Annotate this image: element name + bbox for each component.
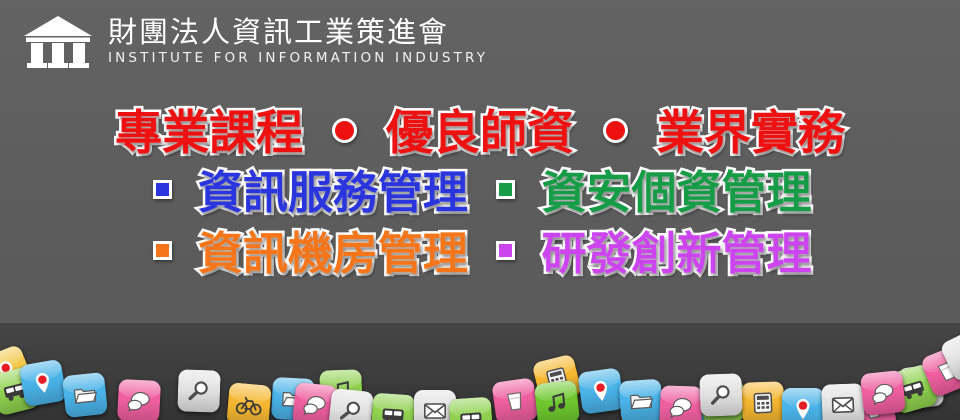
calculator-icon[interactable]: [741, 381, 784, 420]
headline-line-3: 資訊機房管理 研發創新管理: [0, 222, 960, 283]
institute-building-icon: [22, 14, 94, 72]
headline-line-1: 專業課程 優良師資 業界實務: [0, 104, 960, 161]
headline-stack: 專業課程 優良師資 業界實務 資訊服務管理 資安個資管理 資訊機房管理 研發創新…: [0, 104, 960, 283]
course-infosec-privacy-management[interactable]: 資安個資管理: [541, 164, 811, 222]
headline-segment-industry-practice: 業界實務: [657, 107, 845, 161]
map-pin-icon[interactable]: [577, 367, 624, 414]
folder-icon[interactable]: [619, 379, 664, 420]
course-rnd-innovation-management[interactable]: 研發創新管理: [541, 225, 811, 283]
chat-icon[interactable]: [659, 385, 702, 420]
music-icon[interactable]: [534, 380, 580, 420]
map-pin-icon[interactable]: [782, 388, 824, 420]
promo-banner: 財團法人資訊工業策進會 INSTITUTE FOR INFORMATION IN…: [0, 0, 960, 420]
bus-icon[interactable]: [449, 397, 494, 420]
headline-line-2: 資訊服務管理 資安個資管理: [0, 161, 960, 222]
course-it-service-management[interactable]: 資訊服務管理: [198, 164, 468, 222]
logo-english-name: INSTITUTE FOR INFORMATION INDUSTRY: [108, 50, 488, 67]
cup-icon[interactable]: [491, 377, 538, 420]
search-icon[interactable]: [328, 388, 374, 420]
bullet-square-icon: [153, 180, 172, 199]
bus-icon[interactable]: [371, 393, 416, 420]
course-data-center-management[interactable]: 資訊機房管理: [198, 225, 468, 283]
bullet-square-icon: [496, 180, 515, 199]
chat-icon[interactable]: [860, 370, 906, 416]
folder-icon[interactable]: [62, 372, 108, 418]
mail-icon[interactable]: [821, 383, 864, 420]
map-pin-icon[interactable]: [19, 359, 68, 408]
logo-text-block: 財團法人資訊工業策進會 INSTITUTE FOR INFORMATION IN…: [108, 14, 488, 67]
bullet-square-icon: [153, 241, 172, 260]
app-icon-strip: [0, 322, 960, 420]
search-icon[interactable]: [699, 373, 742, 416]
separator-dot-icon: [603, 118, 628, 143]
logo-chinese-name: 財團法人資訊工業策進會: [108, 16, 488, 49]
bike-icon[interactable]: [226, 382, 272, 420]
headline-segment-professional-courses: 專業課程: [115, 107, 303, 161]
separator-dot-icon: [332, 118, 357, 143]
search-icon[interactable]: [177, 369, 220, 412]
chat-icon[interactable]: [117, 379, 161, 420]
organization-logo[interactable]: 財團法人資訊工業策進會 INSTITUTE FOR INFORMATION IN…: [22, 14, 488, 72]
headline-segment-excellent-faculty: 優良師資: [386, 107, 574, 161]
bullet-square-icon: [496, 241, 515, 260]
